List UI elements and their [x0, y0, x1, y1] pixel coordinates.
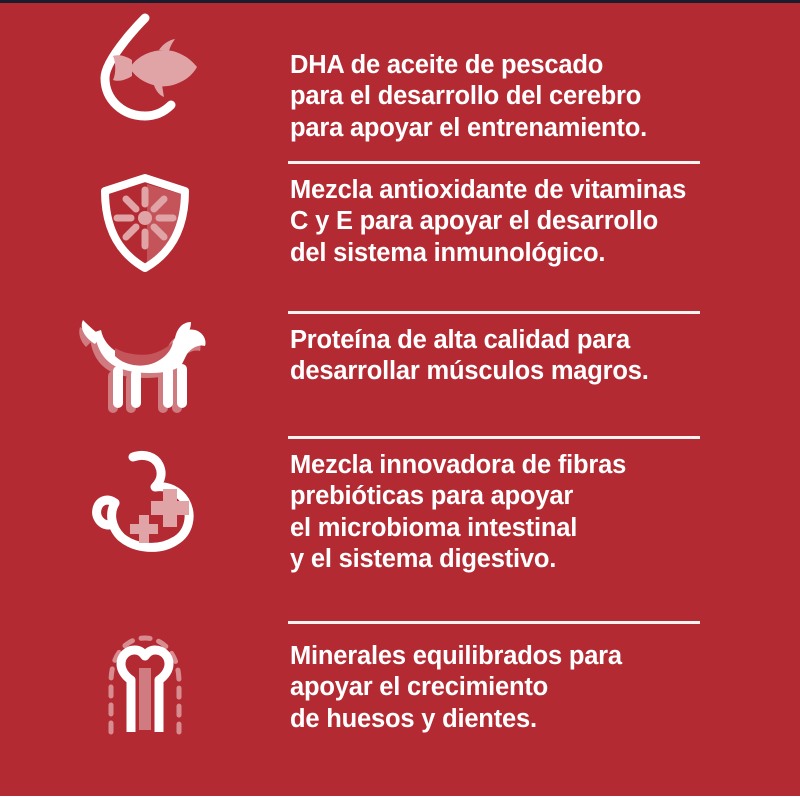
- stomach-crosses-icon: [0, 439, 290, 561]
- benefit-text: Mezcla antioxidante de vitaminas C y E p…: [290, 175, 686, 269]
- shield-starburst-icon: [0, 164, 290, 280]
- benefit-list: DHA de aceite de pescado para el desarro…: [0, 4, 800, 796]
- benefit-text: Mezcla innovadora de fibras prebióticas …: [290, 450, 626, 576]
- top-edge-bar: [0, 0, 800, 3]
- benefit-item: Mezcla innovadora de fibras prebióticas …: [0, 439, 800, 624]
- benefit-item: Proteína de alta calidad para desarrolla…: [0, 314, 800, 439]
- benefit-text: Minerales equilibrados para apoyar el cr…: [290, 641, 622, 735]
- benefits-panel: DHA de aceite de pescado para el desarro…: [0, 0, 800, 800]
- benefit-item: Mezcla antioxidante de vitaminas C y E p…: [0, 164, 800, 314]
- benefit-text: Proteína de alta calidad para desarrolla…: [290, 325, 649, 388]
- benefit-item: DHA de aceite de pescado para el desarro…: [0, 4, 800, 164]
- fish-droplet-icon: [0, 4, 290, 124]
- bone-icon: [0, 624, 290, 748]
- benefit-item: Minerales equilibrados para apoyar el cr…: [0, 624, 800, 796]
- dog-icon: [0, 314, 290, 418]
- benefit-text: DHA de aceite de pescado para el desarro…: [290, 50, 647, 144]
- bottom-edge-bar: [0, 796, 800, 800]
